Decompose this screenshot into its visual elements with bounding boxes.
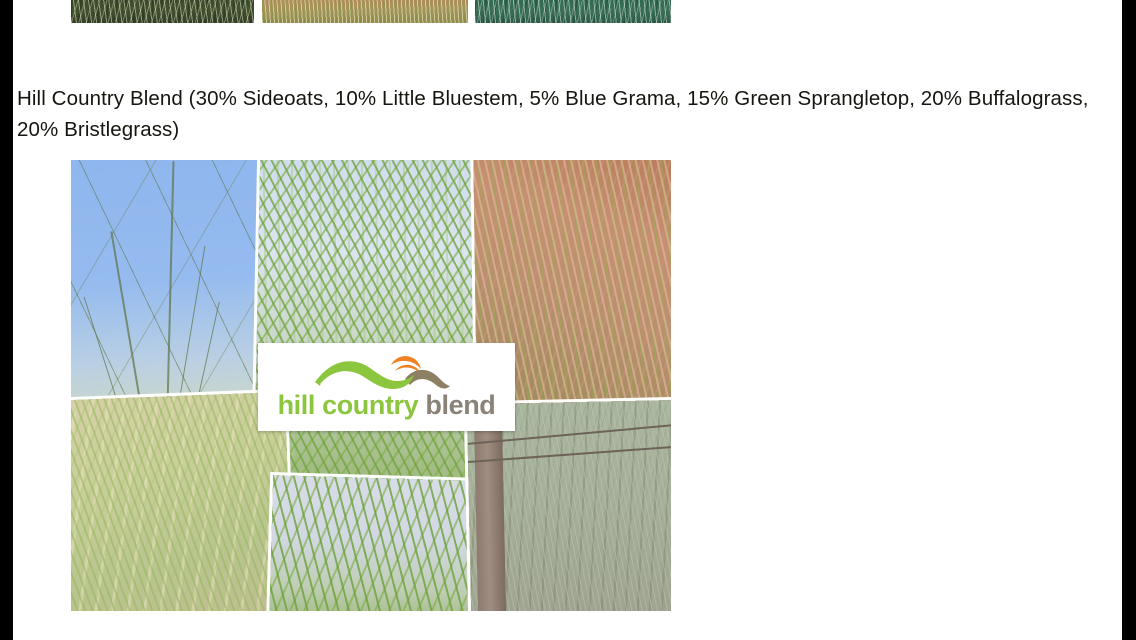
- hill-country-blend-logo: hill country blend: [258, 343, 515, 431]
- logo-word-blend: blend: [425, 390, 495, 420]
- blend-caption: Hill Country Blend (30% Sideoats, 10% Li…: [17, 83, 1115, 145]
- strip-gap-1: [254, 0, 262, 23]
- logo-wordmark: hill country blend: [278, 390, 496, 420]
- collage-tile-green-blades-pale-sky: [269, 475, 485, 611]
- green-blades-photo: [269, 475, 485, 611]
- strip-panel-dark-grass-crop: [71, 0, 254, 23]
- straw-grass-photo: [262, 0, 468, 23]
- collage-tile-green-grass-clump-clouds: [254, 160, 486, 490]
- collage-tile-fence-post-grass-field: [467, 400, 671, 611]
- dark-grass-photo: [71, 0, 254, 23]
- green-grass-clump-photo: [254, 160, 486, 490]
- fence-post-field-photo: [467, 400, 671, 611]
- strip-panel-straw-grass-crop: [262, 0, 468, 23]
- content-column: Hill Country Blend (30% Sideoats, 10% Li…: [13, 0, 1122, 640]
- collage-tile-tall-seedhead-blue-sky: [71, 160, 281, 417]
- hill-sun-logo-icon: [299, 349, 474, 389]
- page-root: Hill Country Blend (30% Sideoats, 10% Li…: [0, 0, 1136, 640]
- tall-seedhead-photo: [71, 160, 281, 417]
- fence-post: [473, 404, 506, 611]
- strip-gap-2: [468, 0, 475, 23]
- cropped-photo-strip: [71, 0, 671, 23]
- logo-word-hill-country: hill country: [278, 390, 419, 420]
- teal-grass-photo: [475, 0, 671, 23]
- strip-panel-teal-grass-crop: [475, 0, 671, 23]
- hill-country-blend-photo-collage: hill country blend: [71, 160, 671, 611]
- letterbox-band-right: [1122, 0, 1136, 640]
- letterbox-band-left: [0, 0, 13, 640]
